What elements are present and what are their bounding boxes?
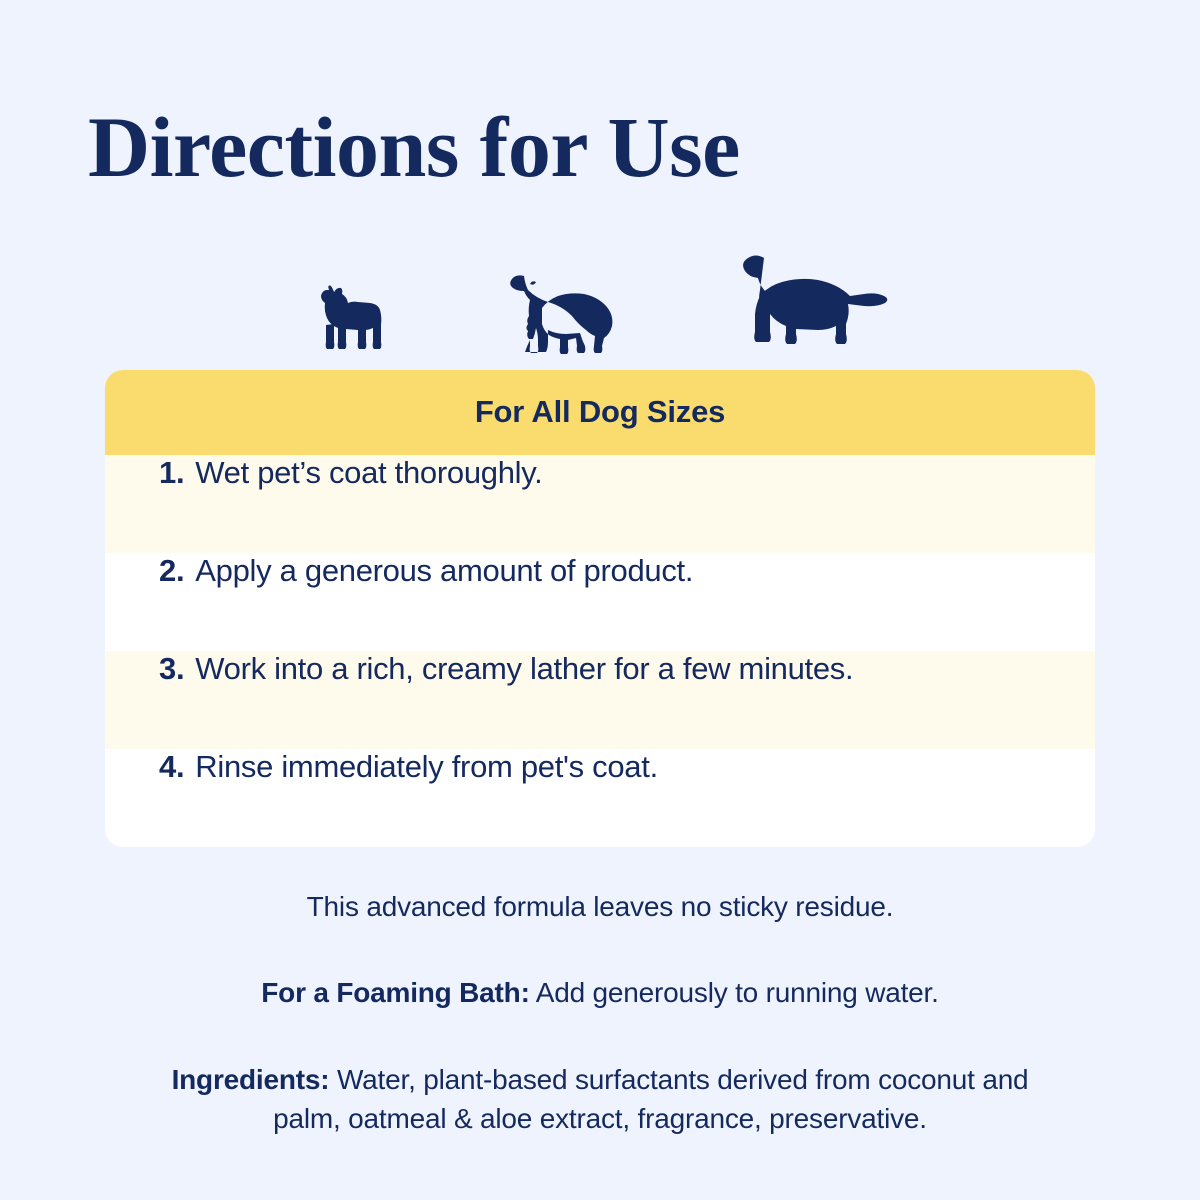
step-text: Work into a rich, creamy lather for a fe…: [195, 651, 853, 687]
foaming-bath-label: For a Foaming Bath:: [261, 977, 529, 1008]
step-row: 4. Rinse immediately from pet's coat.: [105, 749, 1095, 847]
step-row: 1. Wet pet’s coat thoroughly.: [105, 455, 1095, 553]
directions-for-use-panel: Directions for Use For All Dog Sizes 1. …: [0, 0, 1200, 1200]
card-banner-label: For All Dog Sizes: [105, 370, 1095, 455]
step-number: 4.: [159, 749, 184, 785]
step-row: 3. Work into a rich, creamy lather for a…: [105, 651, 1095, 749]
step-number: 1.: [159, 455, 184, 491]
ingredients-label: Ingredients:: [172, 1064, 330, 1095]
step-text: Apply a generous amount of product.: [195, 553, 693, 589]
dog-small-icon: [308, 284, 394, 356]
dog-medium-icon: [502, 260, 626, 356]
dog-large-icon: [734, 244, 892, 356]
residue-note: This advanced formula leaves no sticky r…: [100, 891, 1100, 923]
dog-size-illustrations: [100, 236, 1100, 356]
ingredients-text: Water, plant-based surfactants derived f…: [273, 1064, 1028, 1134]
foaming-bath-note: For a Foaming Bath: Add generously to ru…: [100, 977, 1100, 1009]
page-title: Directions for Use: [88, 104, 740, 190]
footer-notes: This advanced formula leaves no sticky r…: [100, 891, 1100, 1138]
foaming-bath-text: Add generously to running water.: [530, 977, 939, 1008]
step-row: 2. Apply a generous amount of product.: [105, 553, 1095, 651]
step-number: 3.: [159, 651, 184, 687]
directions-card: For All Dog Sizes 1. Wet pet’s coat thor…: [105, 370, 1095, 847]
step-text: Rinse immediately from pet's coat.: [195, 749, 658, 785]
step-text: Wet pet’s coat thoroughly.: [195, 455, 542, 491]
ingredients-note: Ingredients: Water, plant-based surfacta…: [100, 1061, 1100, 1138]
step-number: 2.: [159, 553, 184, 589]
